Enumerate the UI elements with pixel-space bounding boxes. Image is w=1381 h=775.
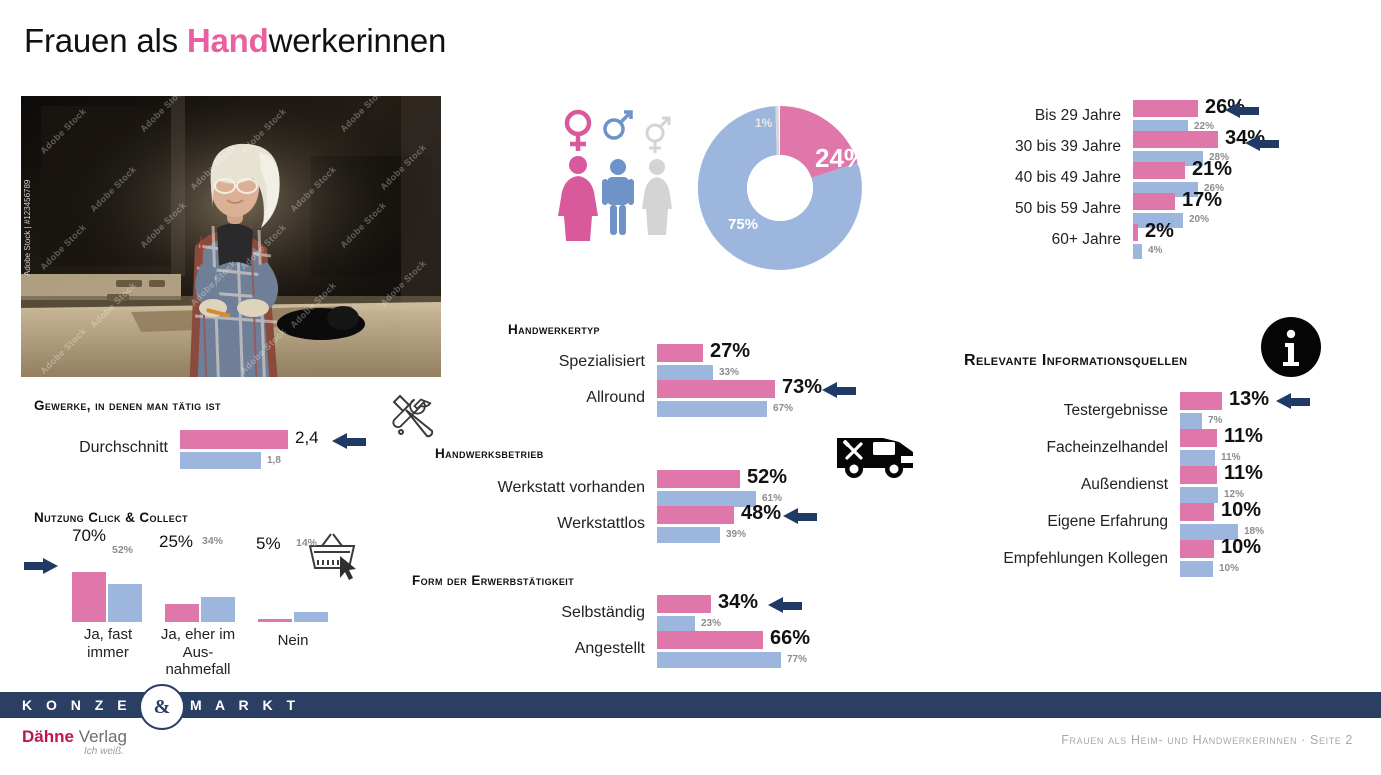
bar-female: 21% [1133,162,1185,179]
row-label: Außendienst [1081,476,1180,494]
gender-pictograms [552,105,682,245]
chart-erwerbstaetigkeit: Selbständig 34% 23% Angestellt 66% 77% [657,595,781,667]
value-male: 77% [787,654,807,665]
title-highlight: Hand [187,22,269,59]
value-male: 39% [726,529,746,540]
row-label: Facheinzelhandel [1046,439,1180,457]
row-label: Werkstattlos [557,515,657,533]
column-label: Ja, eher im Aus-nahmefall [153,626,243,679]
bar-male: 23% [657,616,695,632]
value-female: 2,4 [295,428,319,448]
value-female: 25% [159,532,193,552]
bar-female: 10% [1180,540,1214,558]
row-label: Werkstatt vorhanden [498,479,657,497]
value-female: 21% [1192,158,1232,181]
bar-male: 67% [657,401,767,417]
value-female: 52% [747,466,787,489]
heading-gewerke: Gewerke, in denen man tätig ist [34,398,221,413]
bar-female [258,619,292,622]
bar-female: 26% [1133,100,1198,117]
row-label: Empfehlungen Kollegen [1003,550,1180,568]
bar-male: 4% [1133,244,1142,259]
chart-row: Werkstattlos 48% 39% [657,506,756,542]
value-male: 33% [719,367,739,378]
row-label: Durchschnitt [79,439,180,457]
bar-male [294,612,328,622]
bar-female: 48% [657,506,734,524]
highlight-arrow [1245,135,1279,152]
chart-gewerke: Durchschnitt 2,4 1,8 [180,430,288,466]
chart-row: Spezialisiert 27% 33% [657,344,775,380]
bar-male: 11% [1180,450,1215,466]
bar-female: 66% [657,631,763,649]
heading-infoquellen: Relevante Informationsquellen [964,352,1188,370]
value-male: 7% [1208,415,1222,426]
slide-page: Frauen als Handwerkerinnen [0,0,1381,775]
bar-female: 2,4 [180,430,288,449]
footer-brand-right: M A R K T [190,697,300,713]
value-female: 11% [1224,462,1263,485]
bar-male: 33% [657,365,713,381]
value-female: 10% [1221,499,1261,522]
diverse-figure [642,159,672,235]
page-title: Frauen als Handwerkerinnen [24,22,446,60]
chart-row: Bis 29 Jahre 26% 22% [1133,100,1218,131]
bar-female [165,604,199,622]
row-label: Selbständig [561,604,657,622]
row-label: 50 bis 59 Jahre [1015,200,1133,218]
chart-row: Eigene Erfahrung 10% 18% [1180,503,1238,540]
value-female: 17% [1182,189,1222,212]
row-label: Eigene Erfahrung [1047,513,1180,531]
chart-column-group: 5% 14% Nein [258,560,328,622]
publisher-name-bold: Dähne [22,727,74,746]
row-label: 60+ Jahre [1052,231,1133,249]
bar-male: 77% [657,652,781,668]
male-symbol [605,112,631,138]
bar-female: 52% [657,470,740,488]
bar-male: 10% [1180,561,1213,577]
column-label: Ja, fast immer [63,626,153,661]
footer-page-info: Frauen als Heim- und Handwerkerinnen · S… [1061,733,1353,747]
value-female: 11% [1224,425,1263,448]
bar-female: 13% [1180,392,1222,410]
chart-click-collect: 70% 52% Ja, fast immer 25% 34% Ja, eher … [30,548,360,668]
bar-male [108,584,142,622]
donut-label-female: 24% [815,143,867,174]
highlight-arrow [1276,393,1310,410]
gender-donut-chart: 24% 75% 1% [690,98,870,278]
highlight-arrow [332,433,366,450]
highlight-arrow [783,508,817,525]
bar-female: 11% [1180,429,1217,447]
value-male: 34% [202,535,223,547]
heading-handwerksbetrieb: Handwerksbetrieb [435,446,544,461]
value-female: 13% [1229,388,1269,411]
row-label: Testergebnisse [1064,402,1180,420]
chart-row: Durchschnitt 2,4 1,8 [180,430,288,466]
highlight-arrow [768,597,802,614]
diverse-symbol [647,118,669,153]
heading-erwerbstaetigkeit: Form der Erwerbstätigkeit [412,573,574,588]
donut-label-male: 75% [728,216,758,233]
bar-female: 11% [1180,466,1217,484]
donut-svg [690,98,870,278]
row-label: 40 bis 49 Jahre [1015,169,1133,187]
bar-female: 34% [1133,131,1218,148]
chart-handwerksbetrieb: Werkstatt vorhanden 52% 61% Werkstattlos… [657,470,756,542]
female-symbol [567,112,589,151]
chart-infoquellen: Testergebnisse 13% 7% Facheinzelhandel 1… [1180,392,1238,577]
value-female: 10% [1221,536,1261,559]
row-label: Bis 29 Jahre [1035,107,1133,125]
value-male: 14% [296,537,317,549]
title-post: werkerinnen [269,22,447,59]
value-female: 27% [710,340,750,363]
row-label: 30 bis 39 Jahre [1015,138,1133,156]
chart-column-group: 25% 34% Ja, eher im Aus-nahmefall [165,560,235,622]
bar-female: 10% [1180,503,1214,521]
value-female: 70% [72,526,106,546]
bar-female: 17% [1133,193,1175,210]
value-female: 5% [256,534,281,554]
tools-icon [388,392,444,438]
chart-handwerkertyp: Spezialisiert 27% 33% Allround 73% 67% [657,344,775,416]
value-female: 2% [1145,220,1174,243]
bar-female: 34% [657,595,711,613]
chart-column-group: 70% 52% Ja, fast immer [72,560,142,622]
value-male: 67% [773,403,793,414]
row-label: Allround [586,389,657,407]
publisher-claim: Ich weiß. [84,746,124,757]
bar-male: 7% [1180,413,1202,429]
value-male: 23% [701,618,721,629]
bar-male: 39% [657,527,720,543]
craftsman-van-icon [833,428,917,484]
value-male: 4% [1148,245,1162,256]
info-icon [1260,316,1322,378]
chart-row: Empfehlungen Kollegen 10% 10% [1180,540,1238,577]
value-male: 52% [112,544,133,556]
row-label: Spezialisiert [559,353,657,371]
chart-row: Außendienst 11% 12% [1180,466,1238,503]
bar-female: 73% [657,380,775,398]
highlight-arrow [822,382,856,399]
bar-male [201,597,235,622]
chart-age-groups: Bis 29 Jahre 26% 22% 30 bis 39 Jahre 34%… [1133,100,1218,255]
heading-handwerkertyp: Handwerkertyp [508,322,600,337]
bar-female: 2% [1133,224,1138,241]
value-female: 66% [770,627,810,650]
value-male: 10% [1219,563,1239,574]
title-pre: Frauen als [24,22,187,59]
bar-male: 12% [1180,487,1218,503]
chart-row: Facheinzelhandel 11% 11% [1180,429,1238,466]
chart-row: Angestellt 66% 77% [657,631,781,667]
bar-female [72,572,106,622]
heading-click-collect: Nutzung Click & Collect [34,510,188,525]
pictogram-group [552,105,682,245]
bar-female: 27% [657,344,703,362]
donut-label-diverse: 1% [755,116,772,130]
highlight-arrow [1225,102,1259,119]
value-female: 48% [741,502,781,525]
column-label: Nein [248,632,338,650]
chart-row: Selbständig 34% 23% [657,595,781,631]
row-label: Angestellt [575,640,657,658]
publisher-name-light: Verlag [74,727,127,746]
highlight-arrow [24,558,58,574]
chart-row: Werkstatt vorhanden 52% 61% [657,470,756,506]
hero-photo: Adobe Stock Adobe Stock Adobe Stock Adob… [21,96,441,377]
female-figure [558,156,598,241]
chart-row: Testergebnisse 13% 7% [1180,392,1238,429]
photo-credit: Adobe Stock | #123456789 [23,180,32,276]
chart-row: Allround 73% 67% [657,380,775,416]
photo-illustration [21,96,441,377]
chart-row: 60+ Jahre 2% 4% [1133,224,1218,255]
value-female: 34% [718,591,758,614]
publisher-logo: Dähne Verlag Ich weiß. [22,727,127,747]
value-female: 73% [782,376,822,399]
value-male: 1,8 [267,455,281,466]
male-figure [602,159,634,235]
ampersand-logo: & [139,684,185,730]
bar-male: 1,8 [180,452,261,469]
